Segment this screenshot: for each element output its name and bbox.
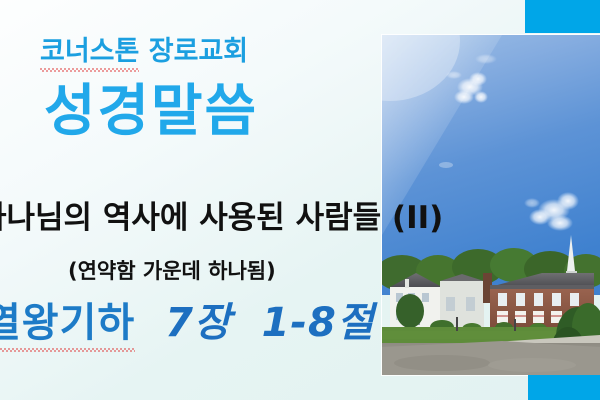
church-name-rest: 장로교회 xyxy=(139,36,248,67)
scripture-verses: 1-8절 xyxy=(262,300,375,346)
scripture-reference: 열왕기하 7장 1-8절 xyxy=(0,303,375,343)
sermon-heading: 하나님의 역사에 사용된 사람들 (II) xyxy=(0,203,443,234)
sermon-slide: 코너스톤 장로교회 성경말씀 하나님의 역사에 사용된 사람들 (II) (연약… xyxy=(0,0,600,400)
page-title: 성경말씀 xyxy=(44,84,258,140)
scripture-chapter: 7장 xyxy=(165,300,232,346)
church-name: 코너스톤 장로교회 xyxy=(40,38,248,65)
church-name-misspelled: 코너스톤 xyxy=(40,36,139,72)
slide-text-layer: 코너스톤 장로교회 성경말씀 하나님의 역사에 사용된 사람들 (II) (연약… xyxy=(0,0,600,400)
scripture-book: 열왕기하 xyxy=(0,300,135,352)
sermon-subtitle: (연약함 가운데 하나됨) xyxy=(68,261,276,282)
